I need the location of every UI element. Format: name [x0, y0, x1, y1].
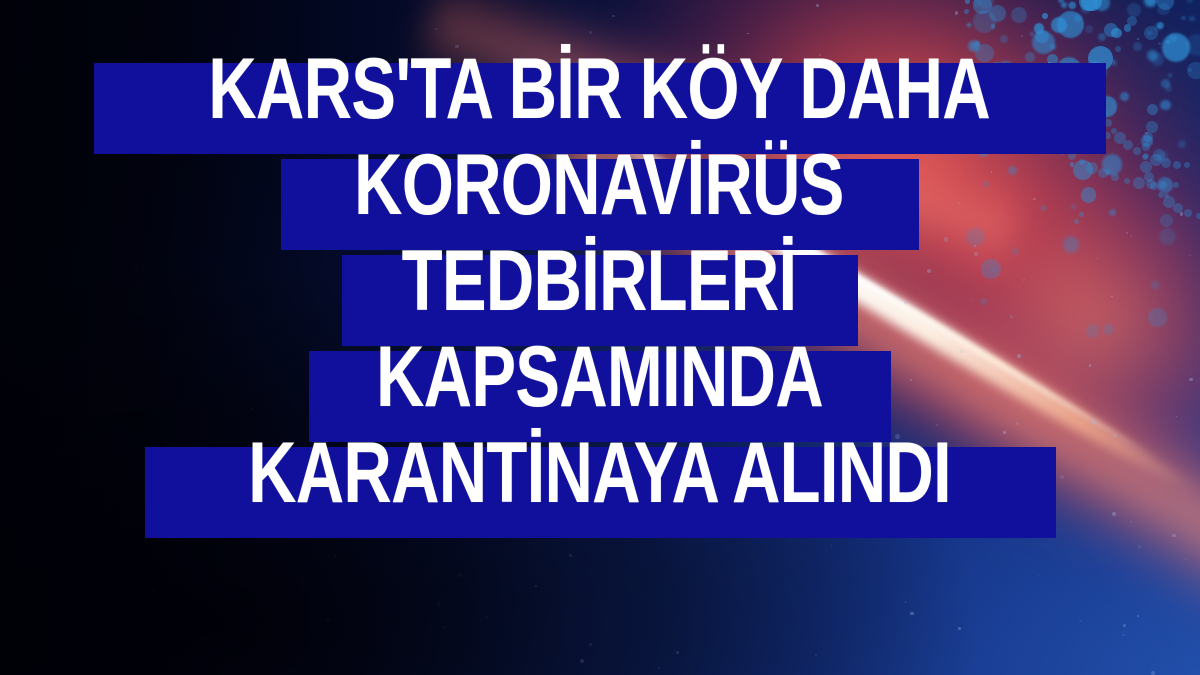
headline-block: KARS'TA BİR KÖY DAHA KORONAVİRÜS TEDBİRL… [0, 0, 1200, 675]
headline-line-5-text: KARANTİNAYA ALINDI [248, 436, 951, 512]
headline-line-2-text: KORONAVİRÜS [354, 148, 844, 224]
headline-line-5: KARANTİNAYA ALINDI [145, 436, 1056, 532]
headline-line-1: KARS'TA BİR KÖY DAHA [94, 52, 1106, 148]
headline-line-2: KORONAVİRÜS [281, 148, 919, 244]
headline-line-1-text: KARS'TA BİR KÖY DAHA [208, 52, 990, 128]
headline-line-4: KAPSAMINDA [309, 340, 892, 436]
headline-line-3-text: TEDBİRLERİ [402, 244, 797, 320]
headline-line-4-text: KAPSAMINDA [376, 340, 823, 416]
news-banner: KARS'TA BİR KÖY DAHA KORONAVİRÜS TEDBİRL… [0, 0, 1200, 675]
headline-line-3: TEDBİRLERİ [342, 244, 858, 340]
